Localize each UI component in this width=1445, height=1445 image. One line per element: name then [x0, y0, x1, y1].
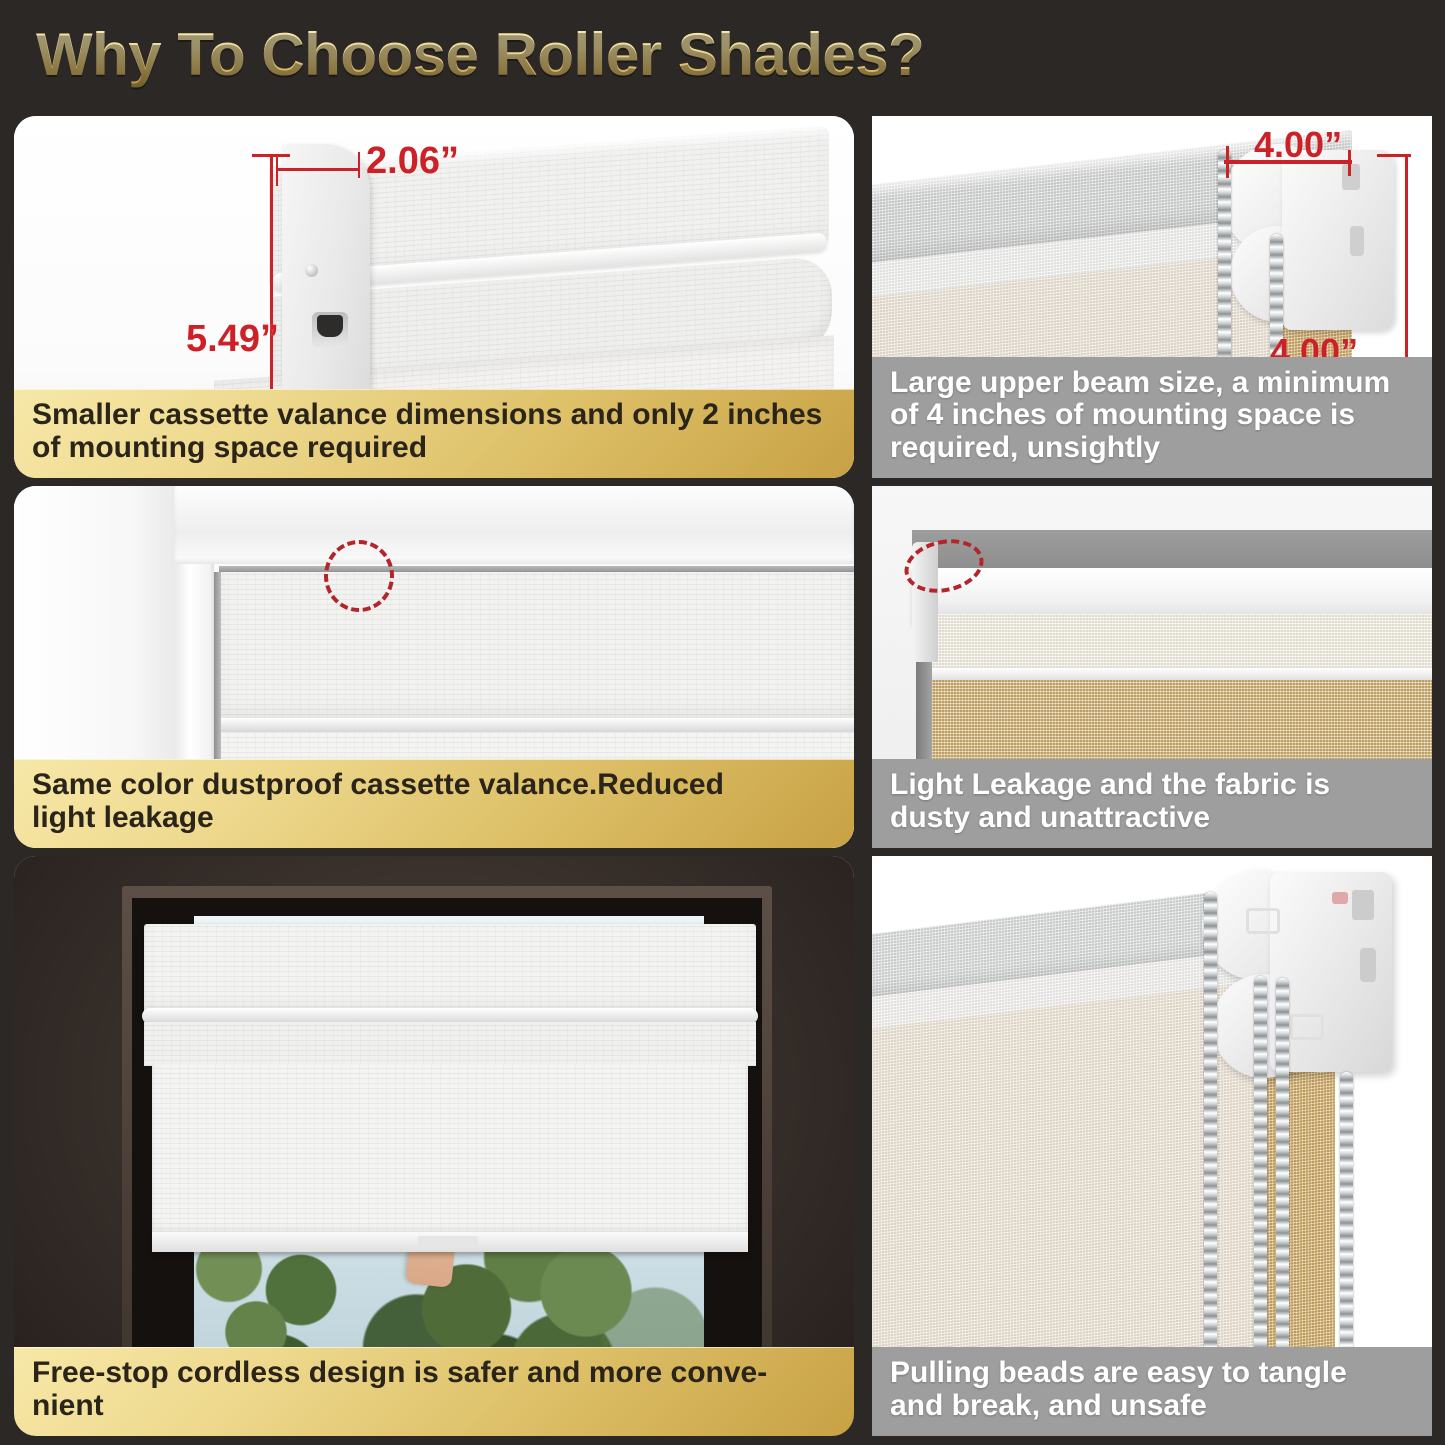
dim-line-width: [276, 168, 360, 171]
chain-guide-icon-bottom: [1290, 1014, 1324, 1040]
header: Why To Choose Roller Shades?: [0, 0, 1445, 108]
caption-dustproof-valance: Same color dustproof cassette valance.Re…: [14, 759, 854, 848]
frame-moulding-top: [174, 486, 854, 564]
panel-grid: 2.06” 5.49” Smaller cassette valance dim…: [0, 108, 1445, 1445]
valance-face: [219, 572, 854, 720]
dimension-width-label: 2.06”: [366, 140, 459, 183]
endcap-screw-top: [305, 264, 318, 277]
bracket-notch-1: [1352, 890, 1374, 920]
caption-light-leakage: Light Leakage and the fabric is dusty an…: [872, 759, 1432, 848]
panel-cassette-valance: 2.06” 5.49” Smaller cassette valance dim…: [14, 116, 854, 478]
caption-large-upper-beam: Large upper beam size, a minimum of 4 in…: [872, 357, 1432, 478]
bracket-notch-1: [1342, 164, 1360, 190]
highlight-ellipse-icon: [324, 540, 394, 612]
bead-chain-2: [1254, 976, 1267, 1408]
panel-light-leakage: Large gap Light Leakage and the fabric i…: [872, 486, 1432, 848]
dim-tick-h-right: [1348, 150, 1351, 176]
valance-lip: [219, 718, 854, 732]
caption-cassette-valance: Smaller cassette valance dimensions and …: [14, 389, 854, 478]
dim-tick-left: [276, 156, 278, 186]
panel-large-upper-beam: 4.00” 4.00” Large upper beam size, a min…: [872, 116, 1432, 478]
infographic-root: Why To Choose Roller Shades?: [0, 0, 1445, 1445]
bracket-marker: [1332, 892, 1348, 904]
dim-cap-v-top: [1377, 154, 1411, 157]
dim-tick-right: [358, 152, 360, 178]
cassette-head: [144, 924, 756, 1012]
bracket-notch-2: [1360, 948, 1376, 982]
cassette-skirt: [144, 1022, 756, 1066]
dim-cap-top: [252, 154, 290, 157]
panel-cordless-design: Free-stop cordless design is safer and m…: [14, 856, 854, 1436]
caption-pulling-beads: Pulling beads are easy to tangle and bre…: [872, 1347, 1432, 1436]
bead-chain-1: [1204, 892, 1217, 1408]
caption-cordless-design: Free-stop cordless design is safer and m…: [14, 1347, 854, 1436]
dimension-height-label: 5.49”: [186, 318, 279, 361]
endcap-slot-inner: [317, 315, 343, 337]
chain-guide-icon-top: [1246, 908, 1280, 934]
page-title: Why To Choose Roller Shades?: [36, 20, 924, 89]
panel-dustproof-valance: smaller gap Same color dustproof cassett…: [14, 486, 854, 848]
shade-fabric-main: [152, 1064, 748, 1234]
bottom-rail-tab: [418, 1236, 478, 1246]
bracket-notch-2: [1350, 226, 1364, 256]
bracket-plate: [1282, 150, 1394, 330]
panel-pulling-beads: Pulling beads are easy to tangle and bre…: [872, 856, 1432, 1436]
dimension-width-label: 4.00”: [1254, 124, 1342, 166]
bead-chain-3: [1276, 978, 1289, 1408]
